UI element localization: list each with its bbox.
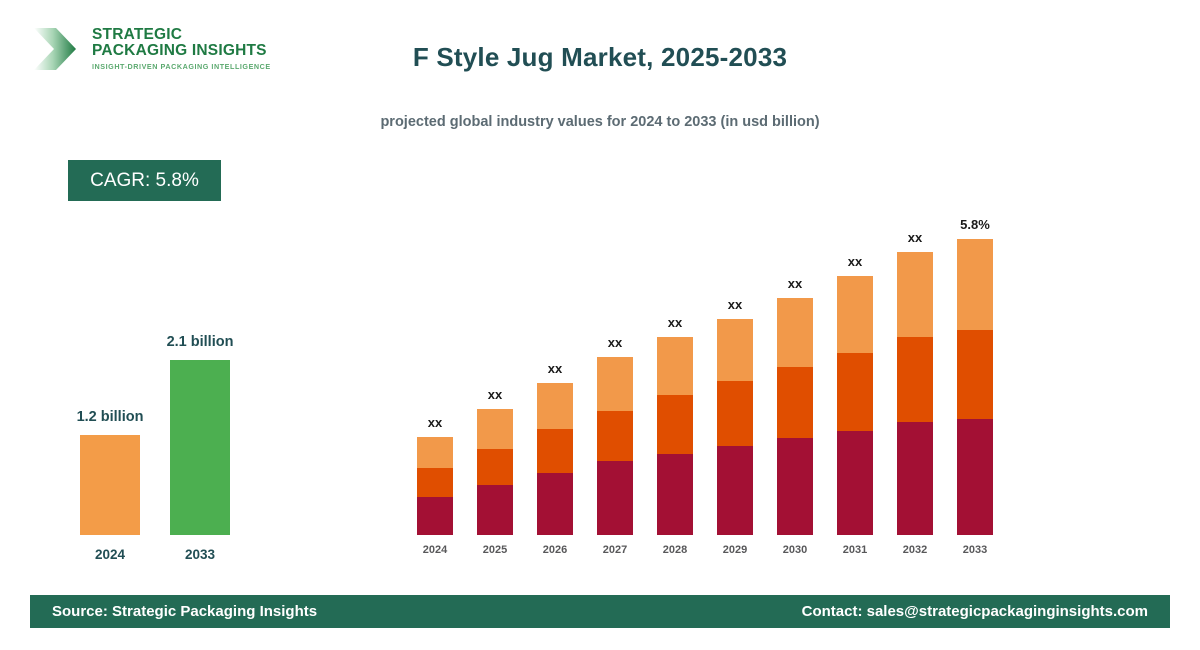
stacked-segment-segment-middle-2027: [597, 411, 633, 461]
stacked-axis-label-2033: 2033: [957, 544, 993, 556]
stacked-bar-2030: [777, 298, 813, 535]
stacked-segment-segment-bottom-2027: [597, 461, 633, 535]
stacked-bar-label-2032: xx: [875, 230, 955, 245]
stacked-axis-label-2024: 2024: [417, 544, 453, 556]
brand-name-line-1: STRATEGIC: [92, 27, 271, 43]
forecast-stacked-bar-chart: xx2024xx2025xx2026xx2027xx2028xx2029xx20…: [400, 195, 1020, 560]
stacked-bar-label-2026: xx: [515, 361, 595, 376]
stacked-bar-label-2033: 5.8%: [935, 217, 1015, 232]
stacked-segment-segment-bottom-2031: [837, 431, 873, 535]
stacked-bar-label-2031: xx: [815, 254, 895, 269]
stacked-bar-2024: [417, 437, 453, 535]
stacked-segment-segment-middle-2033: [957, 330, 993, 419]
stacked-segment-segment-middle-2024: [417, 468, 453, 497]
page-title: F Style Jug Market, 2025-2033: [0, 42, 1200, 73]
stacked-segment-segment-bottom-2028: [657, 454, 693, 535]
stacked-axis-label-2028: 2028: [657, 544, 693, 556]
compare-bar-chart: 1.2 billion20242.1 billion2033: [40, 300, 280, 570]
compare-axis-label-2024: 2024: [80, 547, 140, 562]
stacked-segment-segment-top-2028: [657, 337, 693, 395]
stacked-bar-2026: [537, 383, 573, 535]
stacked-segment-segment-bottom-2033: [957, 419, 993, 535]
cagr-badge: CAGR: 5.8%: [68, 160, 221, 201]
stacked-segment-segment-top-2032: [897, 252, 933, 337]
stacked-segment-segment-bottom-2026: [537, 473, 573, 535]
stacked-bar-label-2028: xx: [635, 315, 715, 330]
stacked-axis-label-2025: 2025: [477, 544, 513, 556]
stacked-bar-label-2030: xx: [755, 276, 835, 291]
stacked-segment-segment-bottom-2024: [417, 497, 453, 535]
stacked-axis-label-2031: 2031: [837, 544, 873, 556]
stacked-bar-2028: [657, 337, 693, 535]
compare-axis-label-2033: 2033: [170, 547, 230, 562]
stacked-segment-segment-middle-2028: [657, 395, 693, 454]
stacked-bar-2032: [897, 252, 933, 535]
stacked-segment-segment-middle-2026: [537, 429, 573, 473]
stacked-segment-segment-top-2030: [777, 298, 813, 367]
stacked-segment-segment-top-2026: [537, 383, 573, 429]
stacked-bar-label-2029: xx: [695, 297, 775, 312]
footer-bar: Source: Strategic Packaging Insights Con…: [30, 595, 1170, 628]
stacked-axis-label-2029: 2029: [717, 544, 753, 556]
stacked-segment-segment-middle-2029: [717, 381, 753, 446]
stacked-segment-segment-top-2024: [417, 437, 453, 468]
stacked-segment-segment-top-2029: [717, 319, 753, 381]
stacked-segment-segment-middle-2032: [897, 337, 933, 422]
stacked-segment-segment-top-2031: [837, 276, 873, 353]
footer-contact: Contact: sales@strategicpackaginginsight…: [802, 603, 1148, 620]
stacked-axis-label-2026: 2026: [537, 544, 573, 556]
stacked-axis-label-2032: 2032: [897, 544, 933, 556]
stacked-axis-label-2030: 2030: [777, 544, 813, 556]
stacked-bar-label-2027: xx: [575, 335, 655, 350]
stacked-segment-segment-bottom-2025: [477, 485, 513, 535]
stacked-segment-segment-top-2033: [957, 239, 993, 330]
stacked-segment-segment-middle-2030: [777, 367, 813, 438]
footer-source: Source: Strategic Packaging Insights: [52, 603, 317, 620]
page-subtitle: projected global industry values for 202…: [0, 114, 1200, 130]
stacked-segment-segment-top-2027: [597, 357, 633, 411]
stacked-bar-label-2025: xx: [455, 387, 535, 402]
stacked-bar-label-2024: xx: [395, 415, 475, 430]
stacked-segment-segment-bottom-2032: [897, 422, 933, 535]
stacked-segment-segment-top-2025: [477, 409, 513, 449]
compare-bar-value-2024: 1.2 billion: [35, 409, 185, 425]
stacked-bar-2031: [837, 276, 873, 535]
compare-bar-2024: [80, 435, 140, 535]
stacked-bar-2029: [717, 319, 753, 535]
stacked-bar-2027: [597, 357, 633, 535]
stacked-segment-segment-bottom-2030: [777, 438, 813, 535]
stacked-bar-2033: [957, 239, 993, 535]
stacked-segment-segment-bottom-2029: [717, 446, 753, 535]
compare-bar-value-2033: 2.1 billion: [125, 334, 275, 350]
stacked-segment-segment-middle-2025: [477, 449, 513, 485]
stacked-axis-label-2027: 2027: [597, 544, 633, 556]
compare-bar-2033: [170, 360, 230, 535]
stacked-segment-segment-middle-2031: [837, 353, 873, 431]
stacked-bar-2025: [477, 409, 513, 535]
